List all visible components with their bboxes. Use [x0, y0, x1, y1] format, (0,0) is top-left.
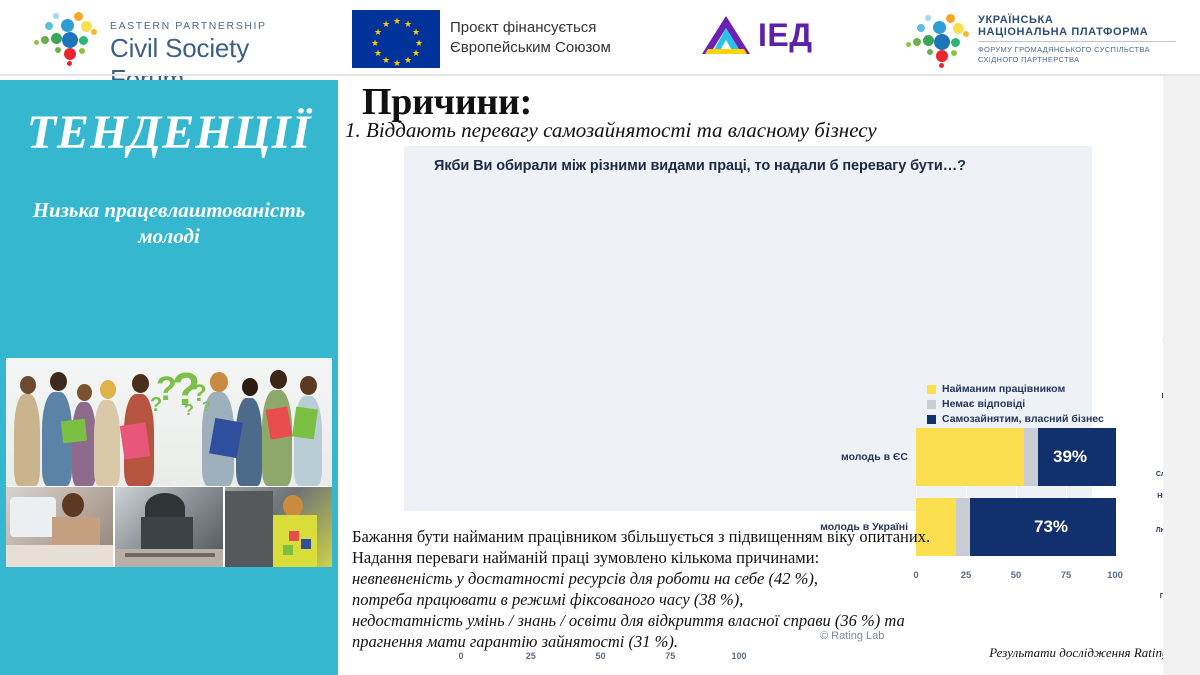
eu-flag-icon: ★ ★ ★ ★ ★ ★ ★ ★ ★ ★ ★ ★ — [352, 10, 440, 68]
segment-noanswer — [1024, 428, 1038, 486]
logo-eastern-partnership-civil-society-forum: EASTERN PARTNERSHIP Civil Society Forum — [28, 8, 328, 70]
summary-row-label-eu: молодь в ЄС — [841, 451, 908, 463]
legend-label-employee: Найманим працівником — [942, 383, 1065, 395]
legend-swatch-noanswer — [927, 400, 936, 409]
source-credit: Результати дослідження Rating Lab — [989, 645, 1192, 661]
legend-item: Самозайнятим, власний бізнес — [927, 412, 1104, 426]
body-paragraphs: Бажання бути найманим працівником збільш… — [352, 526, 1042, 652]
ied-triangle-icon — [700, 14, 752, 56]
right-margin-strip — [1163, 76, 1200, 675]
logo-unp-line1: УКРАЇНСЬКА — [978, 14, 1176, 26]
logo-unp-line2: НАЦІОНАЛЬНА ПЛАТФОРМА — [978, 26, 1176, 38]
logo-eu-funded: ★ ★ ★ ★ ★ ★ ★ ★ ★ ★ ★ ★ Проєкт фінансуєт… — [352, 8, 642, 68]
body-line: невпевненість у достатності ресурсів для… — [352, 568, 1042, 589]
dot-cloud-icon — [28, 10, 106, 68]
sidebar-title: ТЕНДЕНЦІЇ — [0, 105, 338, 160]
body-line: Надання переваги найманій праці зумовлен… — [352, 547, 1042, 568]
page-subtitle: 1. Віддають перевагу самозайнятості та в… — [345, 118, 1065, 143]
segment-employee — [916, 428, 1024, 486]
logo-eapcsf-line1: EASTERN PARTNERSHIP — [110, 20, 328, 32]
axis-tick: 100 — [731, 651, 746, 661]
axis-tick: 25 — [526, 651, 536, 661]
logo-ukrainian-national-platform: УКРАЇНСЬКА НАЦІОНАЛЬНА ПЛАТФОРМА ФОРУМУ … — [898, 8, 1188, 70]
chart-legend: Найманим працівником Немає відповіді Сам… — [927, 382, 1104, 427]
body-line: недостатність умінь / знань / освіти для… — [352, 610, 1042, 631]
photo-collage: ? ? ? ? ? ? — [6, 358, 332, 567]
legend-item: Немає відповіді — [927, 397, 1104, 411]
logo-unp-divider — [978, 41, 1176, 42]
logo-eu-line1: Проєкт фінансується — [450, 18, 611, 38]
header-logo-bar: EASTERN PARTNERSHIP Civil Society Forum … — [0, 0, 1200, 76]
header-divider — [0, 74, 1200, 76]
axis-tick: 100 — [1107, 570, 1123, 581]
legend-swatch-employee — [927, 385, 936, 394]
sidebar-subtitle: Низька працевлаштованість молоді — [12, 197, 326, 249]
logo-eu-line2: Європейським Союзом — [450, 38, 611, 58]
axis-tick: 0 — [458, 651, 463, 661]
chart-title: Якби Ви обирали між різними видами праці… — [434, 158, 966, 174]
summary-row-eu: молодь в ЄС 39% — [916, 428, 1116, 486]
axis-tick: 75 — [665, 651, 675, 661]
axis-tick: 75 — [1061, 570, 1072, 581]
collage-photo-factory — [225, 487, 332, 567]
logo-unp-line4: СХІДНОГО ПАРТНЕРСТВА — [978, 55, 1176, 65]
body-line: потреба працювати в режимі фіксованого ч… — [352, 589, 1042, 610]
body-line: Бажання бути найманим працівником збільш… — [352, 526, 1042, 547]
legend-label-noanswer: Немає відповіді — [942, 398, 1025, 410]
legend-item: Найманим працівником — [927, 382, 1104, 396]
logo-ied-word: ІЕД — [758, 17, 813, 54]
legend-swatch-selfemployed — [927, 415, 936, 424]
dot-cloud-icon-2 — [900, 12, 978, 70]
summary-value-eu: 39% — [1053, 447, 1087, 467]
chart-card: Якби Ви обирали між різними видами праці… — [404, 146, 1092, 511]
country-x-axis: 0 25 50 75 100 — [461, 651, 740, 665]
logo-ied: ІЕД — [700, 14, 860, 62]
logo-unp-line3: ФОРУМУ ГРОМАДЯНСЬКОГО СУСПІЛЬСТВА — [978, 45, 1176, 55]
collage-photo-construction — [115, 487, 222, 567]
sidebar-panel: ТЕНДЕНЦІЇ Низька працевлаштованість моло… — [0, 80, 338, 675]
axis-tick: 50 — [595, 651, 605, 661]
collage-photo-students: ? ? ? ? ? ? — [6, 358, 332, 486]
legend-label-selfemployed: Самозайнятим, власний бізнес — [942, 413, 1104, 425]
body-line: прагнення мати гарантію зайнятості (31 %… — [352, 631, 1042, 652]
collage-photo-sewing — [6, 487, 113, 567]
